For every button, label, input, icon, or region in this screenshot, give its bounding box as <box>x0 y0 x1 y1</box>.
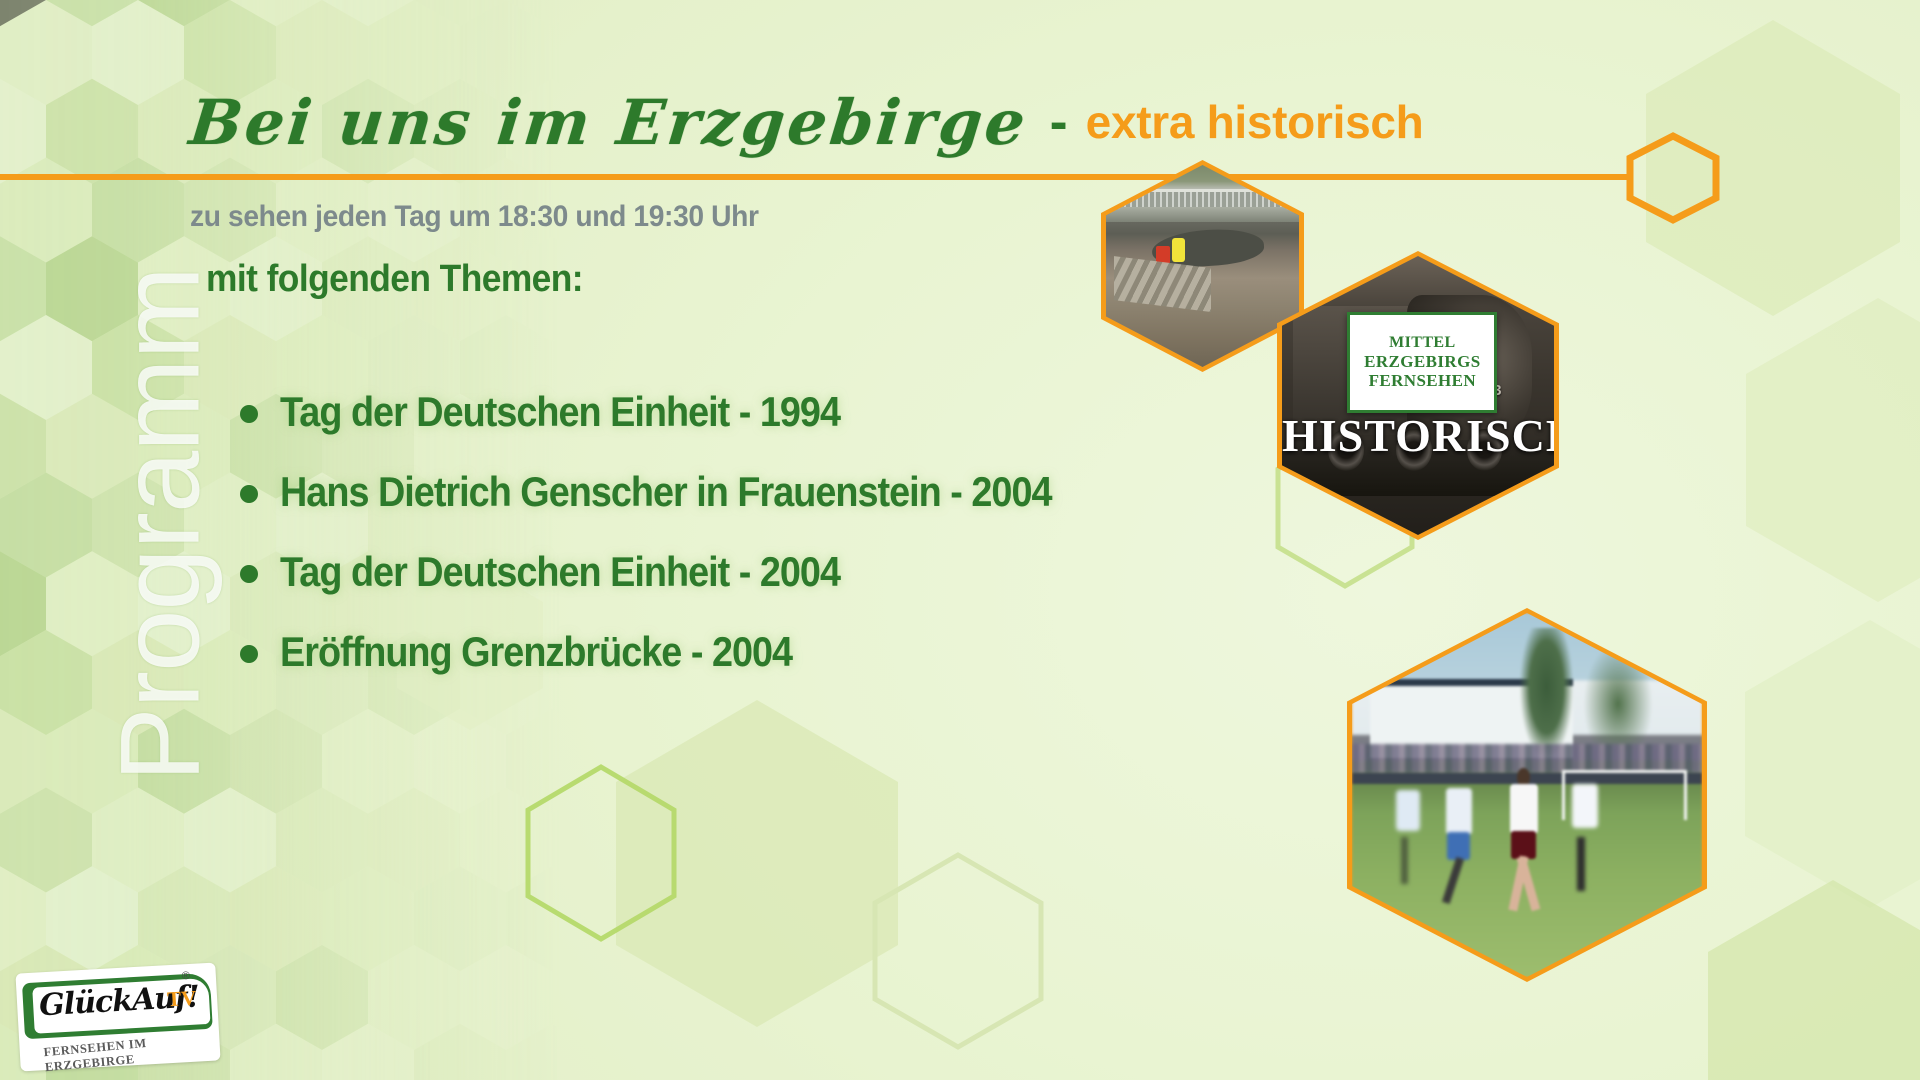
header-divider-rule <box>0 174 1631 180</box>
yellow-vest <box>1172 238 1186 262</box>
bullet-icon <box>240 405 258 423</box>
bullet-icon <box>240 485 258 503</box>
bullet-icon <box>240 645 258 663</box>
met-line-2: ERZGEBIRGS <box>1364 352 1480 371</box>
topic-label: Eröffnung Grenzbrücke - 2004 <box>280 628 792 676</box>
bullet-icon <box>240 565 258 583</box>
page-title: Bei uns im Erzgebirge - extra historisch <box>190 86 1423 159</box>
logo-tv-mark: TV <box>166 986 197 1013</box>
header-hexagon-endcap <box>1625 132 1721 224</box>
topic-label: Hans Dietrich Genscher in Frauenstein - … <box>280 468 1052 516</box>
title-dash: - <box>1028 91 1086 153</box>
slide-canvas: Bei uns im Erzgebirge - extra historisch… <box>0 0 1920 1080</box>
topics-list: Tag der Deutschen Einheit - 1994 Hans Di… <box>240 372 1137 692</box>
met-line-3: FERNSEHEN <box>1369 371 1477 390</box>
bridge-deck <box>1106 207 1299 221</box>
player <box>1569 777 1601 893</box>
list-item: Eröffnung Grenzbrücke - 2004 <box>240 612 1137 692</box>
registered-trademark-icon: ® <box>181 970 190 982</box>
station-logo: GlückAuf! TV ® FERNSEHEN IM ERZGEBIRGE <box>15 962 220 1071</box>
list-item: Tag der Deutschen Einheit - 1994 <box>240 372 1137 452</box>
list-item: Hans Dietrich Genscher in Frauenstein - … <box>240 452 1137 532</box>
photo-historisch-locomotive: 3-3 MITTEL ERZGEBIRGS FERNSEHEN HISTORIS… <box>1277 251 1559 540</box>
hex-clip <box>1352 613 1702 977</box>
hex-clip: 3-3 MITTEL ERZGEBIRGS FERNSEHEN HISTORIS… <box>1282 256 1554 535</box>
historisch-overlay-text: HISTORISCH <box>1282 409 1554 462</box>
topic-label: Tag der Deutschen Einheit - 1994 <box>280 388 840 436</box>
player <box>1443 780 1475 904</box>
topics-intro: mit folgenden Themen: <box>206 258 583 301</box>
list-item: Tag der Deutschen Einheit - 2004 <box>240 532 1137 612</box>
broadcast-times: zu sehen jeden Tag um 18:30 und 19:30 Uh… <box>190 200 759 234</box>
football-photo-art <box>1352 613 1702 977</box>
title-accent-part: extra historisch <box>1086 95 1424 149</box>
sidebar-vertical-label: Programm <box>96 205 225 845</box>
met-line-1: MITTEL <box>1389 334 1455 352</box>
player <box>1394 784 1422 886</box>
met-logo-card: MITTEL ERZGEBIRGS FERNSEHEN <box>1347 312 1497 413</box>
player-foreground <box>1506 773 1541 911</box>
photo-football-match <box>1347 608 1707 982</box>
title-script-part: Bei uns im Erzgebirge <box>186 86 1031 159</box>
photo-bridge-construction <box>1101 160 1304 372</box>
tree <box>1520 628 1573 759</box>
topic-label: Tag der Deutschen Einheit - 2004 <box>280 548 840 596</box>
